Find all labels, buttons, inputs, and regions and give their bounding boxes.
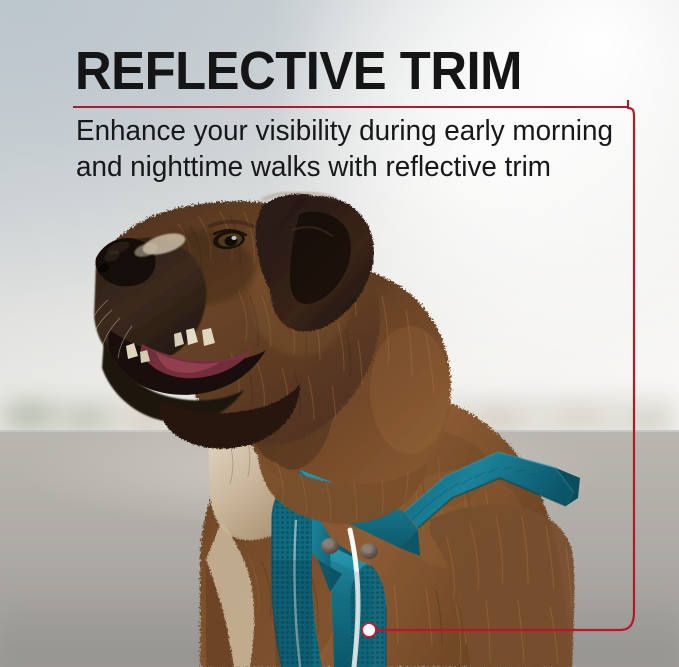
- subtitle-line-2: and nighttime walks with reflective trim: [76, 149, 619, 185]
- subtitle: Enhance your visibility during early mor…: [76, 113, 619, 185]
- dog-photo: [0, 0, 679, 667]
- marketing-banner: REFLECTIVE TRIM Enhance your visibility …: [0, 0, 679, 667]
- headline-divider: [73, 106, 629, 108]
- callout-marker-dot: [361, 622, 377, 638]
- subtitle-line-1: Enhance your visibility during early mor…: [76, 113, 619, 149]
